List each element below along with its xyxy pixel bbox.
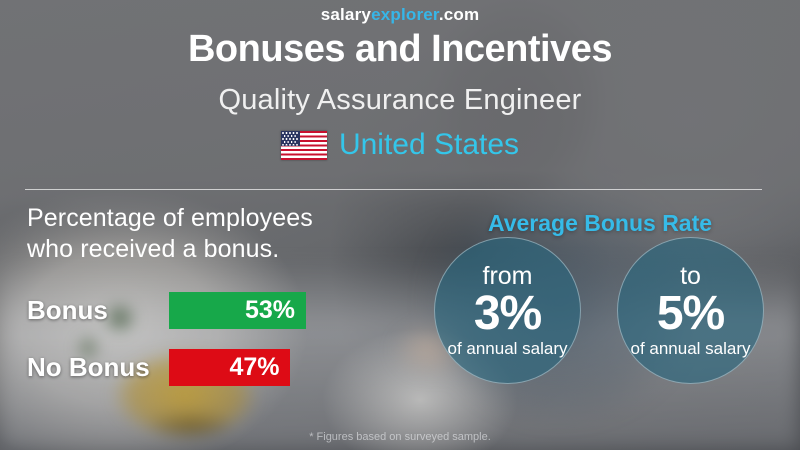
logo-text-explorer: explorer [371,5,439,24]
circle-prefix-from: from [483,264,533,289]
bar-no-bonus: 47% [169,349,290,386]
bar-label-bonus: Bonus [27,295,169,326]
bar-value-bonus: 53% [245,296,295,325]
footnote: * Figures based on surveyed sample. [0,431,800,443]
lead-line-1: Percentage of employees [27,203,313,234]
circle-unit-to: of annual salary [630,340,750,357]
lead-line-2: who received a bonus. [27,234,313,265]
bar-bonus: 53% [169,292,306,329]
bar-row-no-bonus: No Bonus 47% [27,349,290,386]
header-divider [25,189,762,190]
page-title: Bonuses and Incentives [0,28,800,71]
bonus-rate-circle-to: to 5% of annual salary [617,237,764,384]
circle-unit-from: of annual salary [447,340,567,357]
country-row: United States [0,128,800,162]
us-flag-icon [281,131,327,160]
bar-label-no-bonus: No Bonus [27,352,169,383]
left-panel-heading: Percentage of employees who received a b… [27,203,313,264]
site-logo[interactable]: salaryexplorer.com [0,5,800,25]
bar-row-bonus: Bonus 53% [27,292,306,329]
bonus-rate-circle-from: from 3% of annual salary [434,237,581,384]
country-label: United States [339,128,519,162]
bar-value-no-bonus: 47% [229,353,279,382]
infographic-canvas: salaryexplorer.com Bonuses and Incentive… [0,0,800,450]
circle-prefix-to: to [680,264,701,289]
logo-text-tld: .com [439,5,479,24]
average-bonus-rate-title: Average Bonus Rate [432,210,768,237]
circle-value-from: 3% [474,290,541,339]
page-subtitle: Quality Assurance Engineer [0,84,800,117]
flag-stars [281,131,300,147]
logo-text-salary: salary [321,5,371,24]
circle-value-to: 5% [657,290,724,339]
